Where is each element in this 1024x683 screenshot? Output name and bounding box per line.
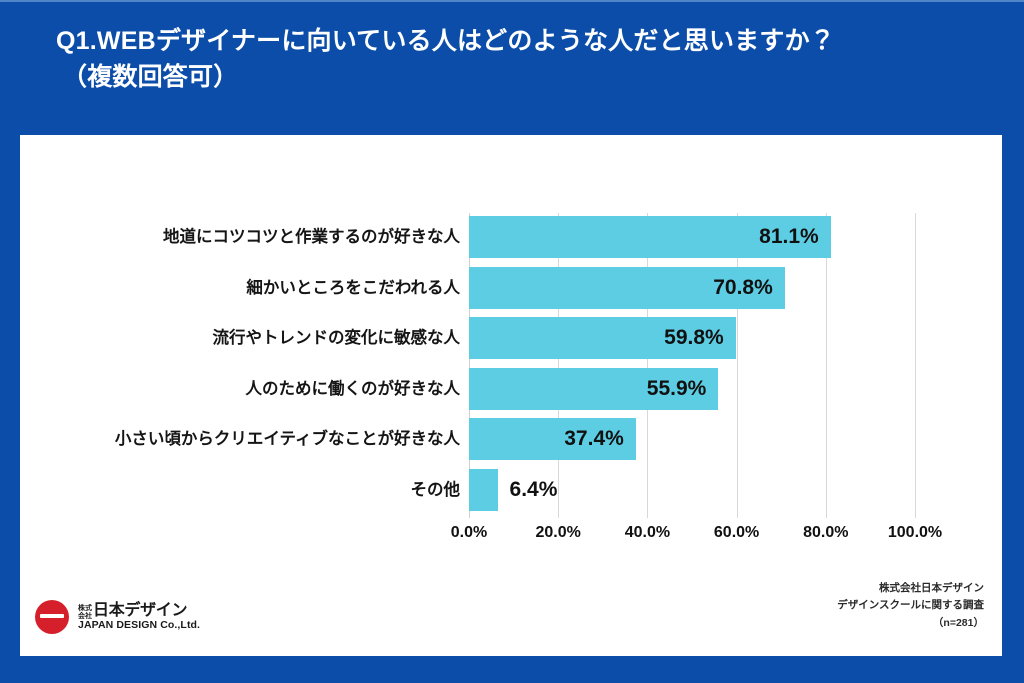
attribution-company: 株式会社日本デザイン: [837, 580, 984, 597]
x-tick-label-0: 0.0%: [451, 524, 487, 542]
bar-row: 6.4%: [469, 469, 915, 511]
company-logo: 株式 会社 日本デザイン JAPAN DESIGN Co.,Ltd.: [35, 600, 200, 634]
bar-chart: 地道にコツコツと作業するのが好きな人細かいところをこだわれる人流行やトレンドの変…: [20, 135, 1002, 565]
top-edge-accent: [0, 0, 1024, 2]
x-tick-label-80: 80.0%: [803, 524, 848, 542]
bar-value-label: 55.9%: [469, 368, 706, 410]
bar-value-label: 59.8%: [469, 317, 724, 359]
logo-japanese-name: 株式 会社 日本デザイン: [78, 602, 200, 620]
bar-value-label: 37.4%: [469, 418, 624, 460]
plot-area: 81.1%70.8%59.8%55.9%37.4%6.4%: [469, 213, 915, 518]
category-label: 流行やトレンドの変化に敏感な人: [213, 317, 461, 359]
logo-text: 株式 会社 日本デザイン JAPAN DESIGN Co.,Ltd.: [78, 602, 200, 632]
logo-kabushiki-kaisha: 株式 会社: [78, 605, 92, 620]
logo-name-ja: 日本デザイン: [93, 602, 187, 620]
survey-attribution: 株式会社日本デザイン デザインスクールに関する調査 （n=281）: [837, 580, 984, 632]
x-axis-tick-labels: 0.0%20.0%40.0%60.0%80.0%100.0%: [469, 524, 915, 550]
bar-rows: 81.1%70.8%59.8%55.9%37.4%6.4%: [469, 213, 915, 518]
category-label: 小さい頃からクリエイティブなことが好きな人: [115, 418, 460, 460]
x-tick-label-40: 40.0%: [625, 524, 670, 542]
bar-row: 81.1%: [469, 216, 915, 258]
bar-value-label: 70.8%: [469, 267, 773, 309]
attribution-survey: デザインスクールに関する調査: [837, 597, 984, 614]
gridline-100: [915, 213, 916, 518]
bar-value-label: 81.1%: [469, 216, 819, 258]
page-title: Q1.WEBデザイナーに向いている人はどのような人だと思いますか？ （複数回答可…: [56, 24, 986, 95]
bar-row: 70.8%: [469, 267, 915, 309]
chart-card: 地道にコツコツと作業するのが好きな人細かいところをこだわれる人流行やトレンドの変…: [20, 135, 1002, 656]
bar-row: 59.8%: [469, 317, 915, 359]
x-tick-label-20: 20.0%: [536, 524, 581, 542]
japan-design-logo-icon: [35, 600, 69, 634]
attribution-sample-size: （n=281）: [837, 615, 984, 632]
bar-value-label: 6.4%: [510, 469, 558, 511]
bar-5[interactable]: [469, 469, 498, 511]
category-label: 地道にコツコツと作業するのが好きな人: [163, 216, 460, 258]
category-label: 細かいところをこだわれる人: [246, 267, 460, 309]
category-axis-labels: 地道にコツコツと作業するのが好きな人細かいところをこだわれる人流行やトレンドの変…: [40, 213, 460, 518]
category-label: 人のために働くのが好きな人: [246, 368, 461, 410]
logo-kk-line1: 株式: [78, 605, 92, 612]
page-title-line1: Q1.WEBデザイナーに向いている人はどのような人だと思いますか？: [56, 27, 835, 55]
bar-row: 55.9%: [469, 368, 915, 410]
x-tick-label-60: 60.0%: [714, 524, 759, 542]
x-tick-label-100: 100.0%: [888, 524, 942, 542]
page-title-line2: （複数回答可）: [56, 60, 986, 96]
logo-name-en: JAPAN DESIGN Co.,Ltd.: [78, 620, 200, 632]
bar-row: 37.4%: [469, 418, 915, 460]
category-label: その他: [411, 469, 461, 511]
